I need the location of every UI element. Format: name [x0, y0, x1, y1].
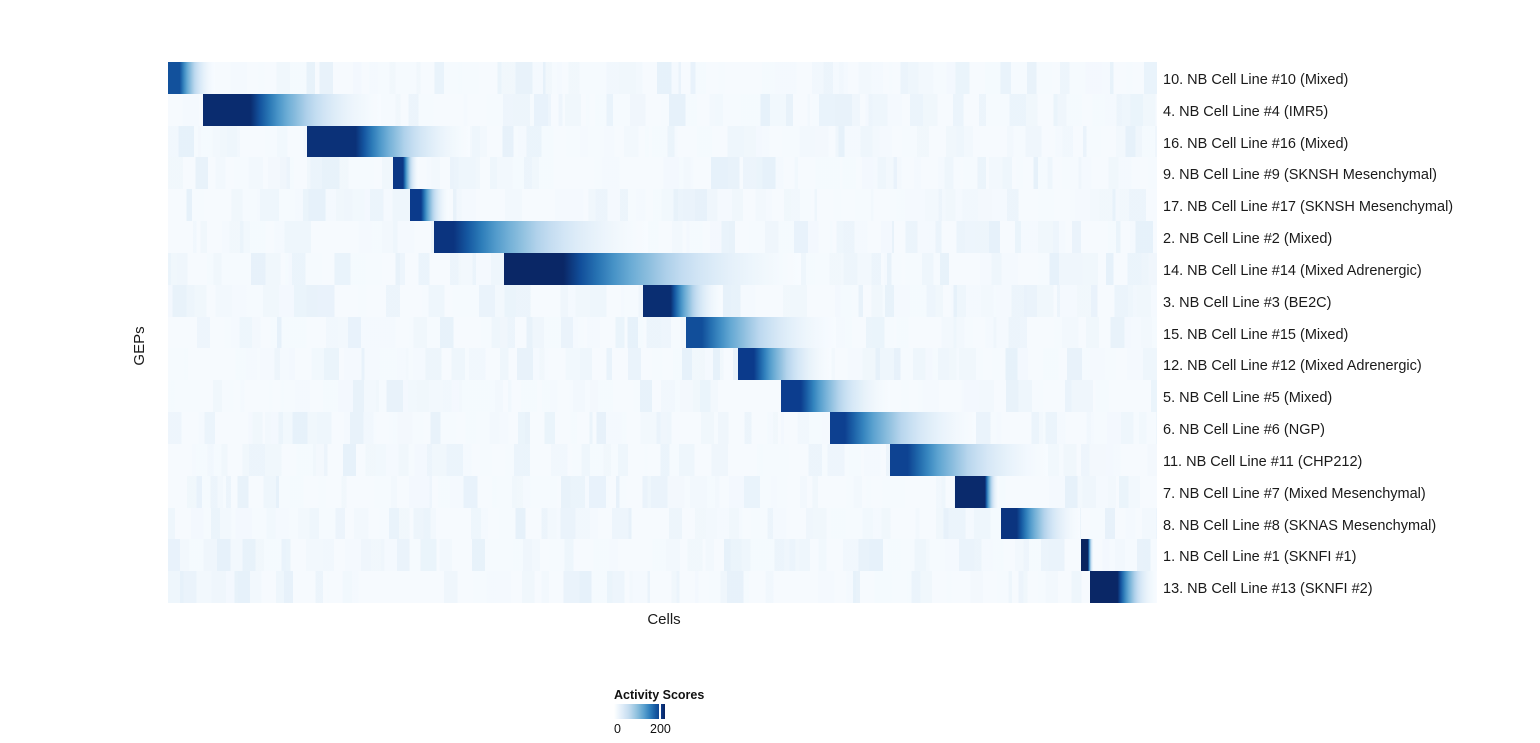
heatmap-activity-block	[781, 380, 890, 412]
heatmap-activity-block	[393, 157, 419, 189]
heatmap-activity-block	[168, 62, 215, 94]
heatmap-row-noise	[168, 157, 1157, 189]
gep-row-label: 10. NB Cell Line #10 (Mixed)	[1163, 73, 1348, 88]
heatmap-activity-block	[1081, 539, 1094, 571]
heatmap-row	[168, 348, 1157, 380]
heatmap-activity-block	[1090, 571, 1157, 603]
heatmap-activity-block	[955, 476, 999, 508]
heatmap-row-noise	[168, 221, 1157, 253]
heatmap-row-noise	[168, 317, 1157, 349]
gep-row-label: 13. NB Cell Line #13 (SKNFI #2)	[1163, 582, 1373, 597]
gep-row-label: 2. NB Cell Line #2 (Mixed)	[1163, 232, 1332, 247]
heatmap-row	[168, 126, 1157, 158]
gep-row-label: 8. NB Cell Line #8 (SKNAS Mesenchymal)	[1163, 519, 1436, 534]
heatmap-row-noise	[168, 476, 1157, 508]
heatmap-row	[168, 317, 1157, 349]
heatmap-activity-block	[643, 285, 722, 317]
heatmap-row	[168, 380, 1157, 412]
heatmap-row	[168, 444, 1157, 476]
heatmap-activity-block	[890, 444, 1048, 476]
heatmap-activity-block	[504, 253, 801, 285]
x-axis-label: Cells	[568, 611, 760, 628]
heatmap-activity-block	[738, 348, 831, 380]
gep-row-label: 3. NB Cell Line #3 (BE2C)	[1163, 296, 1331, 311]
gep-row-label: 9. NB Cell Line #9 (SKNSH Mesenchymal)	[1163, 168, 1437, 183]
heatmap-row	[168, 476, 1157, 508]
heatmap-row	[168, 571, 1157, 603]
heatmap-row	[168, 285, 1157, 317]
colorbar-tick-min: 0	[614, 722, 621, 736]
heatmap-activity-block	[686, 317, 835, 349]
colorbar-tick-mark	[659, 704, 661, 719]
y-axis-label: GEPs	[131, 286, 148, 406]
heatmap-row	[168, 412, 1157, 444]
heatmap-activity-block	[203, 94, 381, 126]
heatmap-row-noise	[168, 189, 1157, 221]
heatmap-activity-block	[830, 412, 976, 444]
heatmap-row-noise	[168, 348, 1157, 380]
heatmap-figure: GEPs Cells 10. NB Cell Line #10 (Mixed)4…	[0, 0, 1540, 743]
gep-row-label: 16. NB Cell Line #16 (Mixed)	[1163, 137, 1348, 152]
colorbar-title: Activity Scores	[614, 688, 704, 702]
heatmap-row-noise	[168, 539, 1157, 571]
heatmap-activity-block	[1001, 508, 1080, 540]
gep-row-label: 4. NB Cell Line #4 (IMR5)	[1163, 105, 1328, 120]
gep-row-label: 11. NB Cell Line #11 (CHP212)	[1163, 455, 1362, 470]
heatmap-activity-block	[410, 189, 449, 221]
heatmap-row	[168, 189, 1157, 221]
heatmap-row	[168, 221, 1157, 253]
gep-row-label: 1. NB Cell Line #1 (SKNFI #1)	[1163, 550, 1356, 565]
heatmap-plot-area	[168, 62, 1157, 603]
gep-row-label: 5. NB Cell Line #5 (Mixed)	[1163, 391, 1332, 406]
gep-row-label: 12. NB Cell Line #12 (Mixed Adrenergic)	[1163, 359, 1422, 374]
heatmap-row	[168, 253, 1157, 285]
gep-row-label: 7. NB Cell Line #7 (Mixed Mesenchymal)	[1163, 487, 1426, 502]
gep-row-label: 15. NB Cell Line #15 (Mixed)	[1163, 328, 1348, 343]
heatmap-row	[168, 94, 1157, 126]
heatmap-row-noise	[168, 412, 1157, 444]
heatmap-row	[168, 62, 1157, 94]
heatmap-row	[168, 539, 1157, 571]
heatmap-activity-block	[307, 126, 469, 158]
heatmap-row-noise	[168, 380, 1157, 412]
heatmap-row	[168, 508, 1157, 540]
colorbar-tick-max: 200	[650, 722, 671, 736]
heatmap-activity-block	[434, 221, 648, 253]
gep-row-label: 6. NB Cell Line #6 (NGP)	[1163, 423, 1325, 438]
heatmap-row-noise	[168, 62, 1157, 94]
gep-row-label: 17. NB Cell Line #17 (SKNSH Mesenchymal)	[1163, 200, 1453, 215]
gep-row-label: 14. NB Cell Line #14 (Mixed Adrenergic)	[1163, 264, 1422, 279]
heatmap-row	[168, 157, 1157, 189]
heatmap-row-noise	[168, 571, 1157, 603]
colorbar-gradient	[614, 704, 665, 719]
